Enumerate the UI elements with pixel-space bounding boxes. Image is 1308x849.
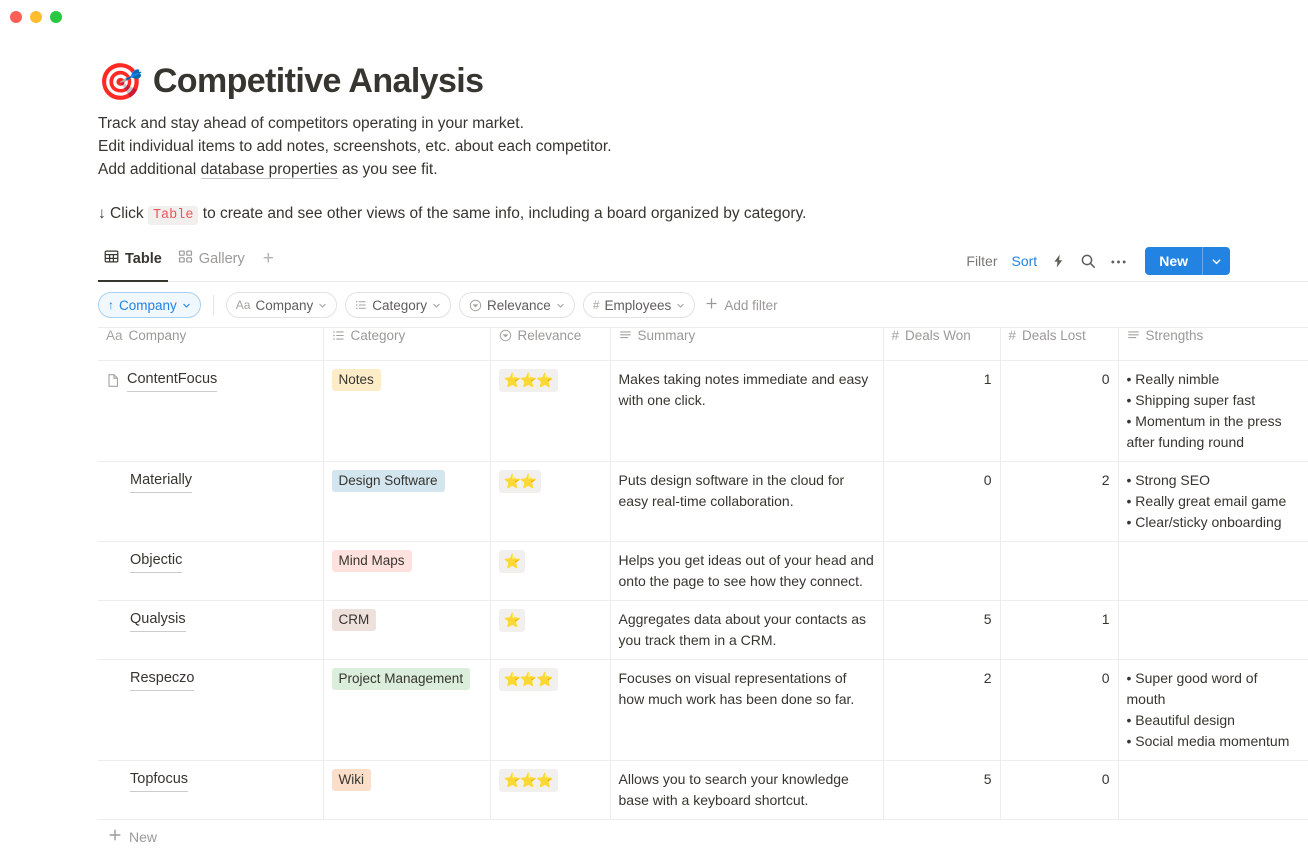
cell-strengths[interactable]: • Really nimble• Shipping super fast• Mo… (1118, 361, 1308, 462)
column-header-category-label: Category (351, 328, 406, 343)
table-row[interactable]: RespeczoProject Management⭐⭐⭐Focuses on … (98, 660, 1308, 761)
cell-company[interactable]: ContentFocus (98, 361, 323, 462)
relevance-stars: ⭐ (499, 550, 525, 573)
column-header-deals-won[interactable]: # Deals Won (883, 328, 1000, 361)
cell-category[interactable]: Mind Maps (323, 542, 490, 601)
filter-chip-category-label: Category (372, 298, 427, 313)
database-table: Aa Company C (98, 327, 1308, 820)
table-row[interactable]: TopfocusWiki⭐⭐⭐Allows you to search your… (98, 761, 1308, 820)
new-button[interactable]: New (1145, 247, 1230, 275)
column-header-relevance-label: Relevance (518, 328, 582, 343)
row-title-link[interactable]: Respeczo (130, 668, 194, 691)
tab-gallery[interactable]: Gallery (172, 244, 251, 281)
cell-strengths[interactable] (1118, 761, 1308, 820)
cell-deals-lost[interactable]: 0 (1000, 761, 1118, 820)
cell-relevance[interactable]: ⭐ (490, 542, 610, 601)
chevron-down-icon (676, 301, 685, 310)
cell-deals-won[interactable]: 1 (883, 361, 1000, 462)
strength-item: • Really nimble (1127, 369, 1301, 390)
deals-won-value: 1 (984, 371, 992, 387)
column-header-deals-lost[interactable]: # Deals Lost (1000, 328, 1118, 361)
deals-won-value: 2 (984, 670, 992, 686)
sort-chip-label: Company (119, 298, 177, 313)
category-tag: Notes (332, 369, 381, 391)
row-title-link[interactable]: ContentFocus (127, 369, 217, 392)
column-header-company[interactable]: Aa Company (98, 328, 323, 361)
cell-strengths[interactable]: • Super good word of mouth• Beautiful de… (1118, 660, 1308, 761)
tab-gallery-label: Gallery (199, 251, 245, 267)
strength-item: • Shipping super fast (1127, 390, 1301, 411)
strength-item: • Clear/sticky onboarding (1127, 512, 1301, 533)
column-header-strengths[interactable]: Strengths (1118, 328, 1308, 361)
text-icon: Aa (106, 328, 123, 343)
minimize-window-button[interactable] (30, 11, 42, 23)
hint-code-chip: Table (148, 206, 199, 225)
page-header: 🎯 Competitive Analysis (98, 62, 1308, 101)
cell-relevance[interactable]: ⭐⭐ (490, 462, 610, 542)
cell-company[interactable]: Qualysis (98, 601, 323, 660)
strength-item: • Really great email game (1127, 491, 1301, 512)
page-icon[interactable] (106, 373, 121, 388)
column-header-relevance[interactable]: Relevance (490, 328, 610, 361)
deals-won-value: 5 (984, 771, 992, 787)
cell-strengths[interactable]: • Strong SEO• Really great email game• C… (1118, 462, 1308, 542)
filter-chip-bar: ↑ Company Aa Company Categ (98, 282, 1308, 327)
add-view-button[interactable]: + (255, 249, 282, 276)
cell-summary[interactable]: Aggregates data about your contacts as y… (610, 601, 883, 660)
page-description: Track and stay ahead of competitors oper… (98, 113, 1308, 181)
page-hint: ↓ Click Table to create and see other vi… (98, 205, 1308, 223)
summary-text: Puts design software in the cloud for ea… (619, 472, 845, 509)
column-header-company-label: Company (129, 328, 187, 343)
relevance-stars: ⭐⭐ (499, 470, 542, 493)
cell-relevance[interactable]: ⭐⭐⭐ (490, 660, 610, 761)
chevron-down-icon (318, 301, 327, 310)
filter-chip-company-label: Company (255, 298, 313, 313)
strength-item: • Beautiful design (1127, 710, 1301, 731)
filter-button[interactable]: Filter (966, 253, 997, 269)
cell-company[interactable]: Topfocus (98, 761, 323, 820)
cell-strengths[interactable] (1118, 542, 1308, 601)
filter-chip-relevance[interactable]: Relevance (459, 292, 575, 318)
window-traffic-lights (10, 11, 62, 23)
text-lines-icon (1127, 329, 1140, 342)
strength-item: • Social media momentum (1127, 731, 1301, 752)
strengths-list: • Super good word of mouth• Beautiful de… (1127, 668, 1301, 752)
cell-relevance[interactable]: ⭐ (490, 601, 610, 660)
circle-caret-icon (469, 299, 482, 312)
new-row-label: New (129, 829, 157, 845)
cell-deals-lost[interactable]: 0 (1000, 660, 1118, 761)
page-content: 🎯 Competitive Analysis Track and stay ah… (0, 62, 1308, 849)
tab-table-label: Table (125, 251, 162, 267)
cell-category[interactable]: Project Management (323, 660, 490, 761)
database-view-bar: Table Gallery + Filter Sort (98, 245, 1308, 282)
filter-chip-relevance-label: Relevance (487, 298, 551, 313)
database-toolbar: Filter Sort New (966, 247, 1230, 281)
number-icon: # (1009, 328, 1017, 343)
select-icon (355, 299, 367, 311)
description-link-suffix: as you see fit. (338, 161, 438, 178)
add-filter-label: Add filter (724, 298, 777, 313)
cell-deals-won[interactable]: 0 (883, 462, 1000, 542)
gallery-icon (178, 249, 193, 268)
tab-table[interactable]: Table (98, 244, 168, 281)
search-icon[interactable] (1080, 253, 1096, 269)
plus-icon (705, 297, 718, 313)
table-header-row: Aa Company C (98, 328, 1308, 361)
page-title: Competitive Analysis (153, 62, 484, 101)
cell-summary[interactable]: Helps you get ideas out of your head and… (610, 542, 883, 601)
deals-lost-value: 0 (1102, 771, 1110, 787)
deals-lost-value: 0 (1102, 670, 1110, 686)
deals-won-value: 5 (984, 611, 992, 627)
summary-text: Helps you get ideas out of your head and… (619, 552, 874, 589)
row-title-link[interactable]: Materially (130, 470, 192, 493)
column-header-category[interactable]: Category (323, 328, 490, 361)
description-link-prefix: Add additional (98, 161, 201, 178)
category-tag: Wiki (332, 769, 372, 791)
cell-company[interactable]: Respeczo (98, 660, 323, 761)
row-title-link[interactable]: Qualysis (130, 609, 186, 632)
column-header-summary-label: Summary (638, 328, 696, 343)
cell-strengths[interactable] (1118, 601, 1308, 660)
column-header-deals-lost-label: Deals Lost (1022, 328, 1086, 343)
arrow-up-icon: ↑ (108, 298, 114, 312)
row-title-link[interactable]: Topfocus (130, 769, 188, 792)
description-line-1: Track and stay ahead of competitors oper… (98, 113, 1308, 135)
table-row[interactable]: ObjecticMind Maps⭐Helps you get ideas ou… (98, 542, 1308, 601)
column-header-strengths-label: Strengths (1146, 328, 1204, 343)
summary-text: Makes taking notes immediate and easy wi… (619, 371, 869, 408)
cell-summary[interactable]: Makes taking notes immediate and easy wi… (610, 361, 883, 462)
cell-deals-lost[interactable]: 1 (1000, 601, 1118, 660)
new-button-label: New (1145, 247, 1202, 275)
table-row[interactable]: ContentFocusNotes⭐⭐⭐Makes taking notes i… (98, 361, 1308, 462)
table-row[interactable]: QualysisCRM⭐Aggregates data about your c… (98, 601, 1308, 660)
table-body: ContentFocusNotes⭐⭐⭐Makes taking notes i… (98, 361, 1308, 820)
cell-deals-won[interactable] (883, 542, 1000, 601)
table-icon (104, 249, 119, 268)
chevron-down-icon (432, 301, 441, 310)
deals-lost-value: 2 (1102, 472, 1110, 488)
cell-company[interactable]: Objectic (98, 542, 323, 601)
row-title-link[interactable]: Objectic (130, 550, 182, 573)
category-tag: Design Software (332, 470, 445, 492)
cell-deals-lost[interactable]: 2 (1000, 462, 1118, 542)
category-tag: CRM (332, 609, 377, 631)
hint-suffix: to create and see other views of the sam… (198, 205, 806, 222)
strengths-list: • Strong SEO• Really great email game• C… (1127, 470, 1301, 533)
sort-chip-company[interactable]: ↑ Company (98, 292, 201, 318)
filter-chip-company[interactable]: Aa Company (226, 292, 337, 318)
database-properties-link[interactable]: database properties (201, 161, 338, 179)
sort-button[interactable]: Sort (1012, 253, 1038, 269)
cell-deals-lost[interactable] (1000, 542, 1118, 601)
chevron-down-icon[interactable] (1203, 247, 1230, 275)
description-line-3: Add additional database properties as yo… (98, 159, 1308, 181)
window-titlebar (0, 0, 1308, 30)
page-emoji-icon[interactable]: 🎯 (98, 64, 143, 100)
deals-lost-value: 0 (1102, 371, 1110, 387)
new-row-button[interactable]: New (98, 820, 1253, 849)
cell-relevance[interactable]: ⭐⭐⭐ (490, 761, 610, 820)
strengths-list: • Really nimble• Shipping super fast• Mo… (1127, 369, 1301, 453)
relevance-stars: ⭐⭐⭐ (499, 369, 558, 392)
strength-item: • Momentum in the press after funding ro… (1127, 411, 1301, 453)
add-filter-button[interactable]: Add filter (703, 297, 777, 313)
chip-divider (213, 295, 214, 315)
summary-text: Allows you to search your knowledge base… (619, 771, 849, 808)
deals-won-value: 0 (984, 472, 992, 488)
circle-caret-icon (499, 329, 512, 342)
hint-prefix: ↓ Click (98, 205, 148, 222)
deals-lost-value: 1 (1102, 611, 1110, 627)
chevron-down-icon (556, 301, 565, 310)
description-line-2: Edit individual items to add notes, scre… (98, 136, 1308, 158)
cell-category[interactable]: Notes (323, 361, 490, 462)
plus-icon (108, 828, 122, 845)
text-icon: Aa (236, 298, 251, 312)
cell-summary[interactable]: Focuses on visual representations of how… (610, 660, 883, 761)
cell-relevance[interactable]: ⭐⭐⭐ (490, 361, 610, 462)
strength-item: • Strong SEO (1127, 470, 1301, 491)
cell-deals-won[interactable]: 5 (883, 601, 1000, 660)
cell-deals-lost[interactable]: 0 (1000, 361, 1118, 462)
relevance-stars: ⭐ (499, 609, 525, 632)
number-icon: # (892, 328, 900, 343)
summary-text: Focuses on visual representations of how… (619, 670, 855, 707)
select-icon (332, 329, 345, 342)
cell-company[interactable]: Materially (98, 462, 323, 542)
relevance-stars: ⭐⭐⭐ (499, 668, 558, 691)
chevron-down-icon (182, 301, 191, 310)
lightning-icon[interactable] (1051, 253, 1066, 269)
column-header-deals-won-label: Deals Won (905, 328, 971, 343)
cell-summary[interactable]: Allows you to search your knowledge base… (610, 761, 883, 820)
filter-chip-category[interactable]: Category (345, 292, 451, 318)
close-window-button[interactable] (10, 11, 22, 23)
cell-summary[interactable]: Puts design software in the cloud for ea… (610, 462, 883, 542)
number-icon: # (593, 298, 600, 312)
text-lines-icon (619, 329, 632, 342)
cell-category[interactable]: Wiki (323, 761, 490, 820)
filter-chip-employees-label: Employees (605, 298, 672, 313)
category-tag: Mind Maps (332, 550, 412, 572)
ellipsis-icon[interactable] (1110, 253, 1127, 269)
column-header-summary[interactable]: Summary (610, 328, 883, 361)
cell-category[interactable]: CRM (323, 601, 490, 660)
category-tag: Project Management (332, 668, 471, 690)
table-row[interactable]: MateriallyDesign Software⭐⭐Puts design s… (98, 462, 1308, 542)
view-tabs: Table Gallery + (98, 244, 282, 281)
cell-deals-won[interactable]: 5 (883, 761, 1000, 820)
cell-deals-won[interactable]: 2 (883, 660, 1000, 761)
maximize-window-button[interactable] (50, 11, 62, 23)
strength-item: • Super good word of mouth (1127, 668, 1301, 710)
filter-chip-employees[interactable]: # Employees (583, 292, 695, 318)
summary-text: Aggregates data about your contacts as y… (619, 611, 867, 648)
cell-category[interactable]: Design Software (323, 462, 490, 542)
relevance-stars: ⭐⭐⭐ (499, 769, 558, 792)
